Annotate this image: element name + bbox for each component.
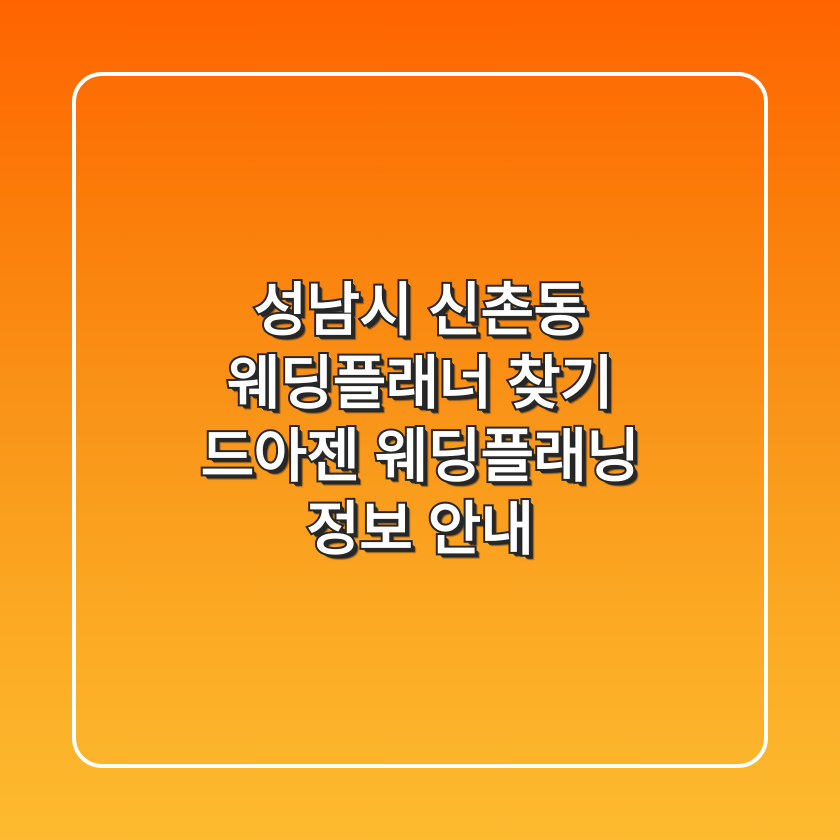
headline-line-3: 드아젠 웨딩플래닝 xyxy=(201,420,640,493)
headline-line-2: 웨딩플래너 찾기 xyxy=(227,347,613,420)
headline-block: 성남시 신촌동 웨딩플래너 찾기 드아젠 웨딩플래닝 정보 안내 xyxy=(0,274,840,566)
headline-line-4: 정보 안내 xyxy=(306,493,533,566)
promo-card: 성남시 신촌동 웨딩플래너 찾기 드아젠 웨딩플래닝 정보 안내 xyxy=(0,0,840,840)
headline-line-1: 성남시 신촌동 xyxy=(254,274,587,347)
